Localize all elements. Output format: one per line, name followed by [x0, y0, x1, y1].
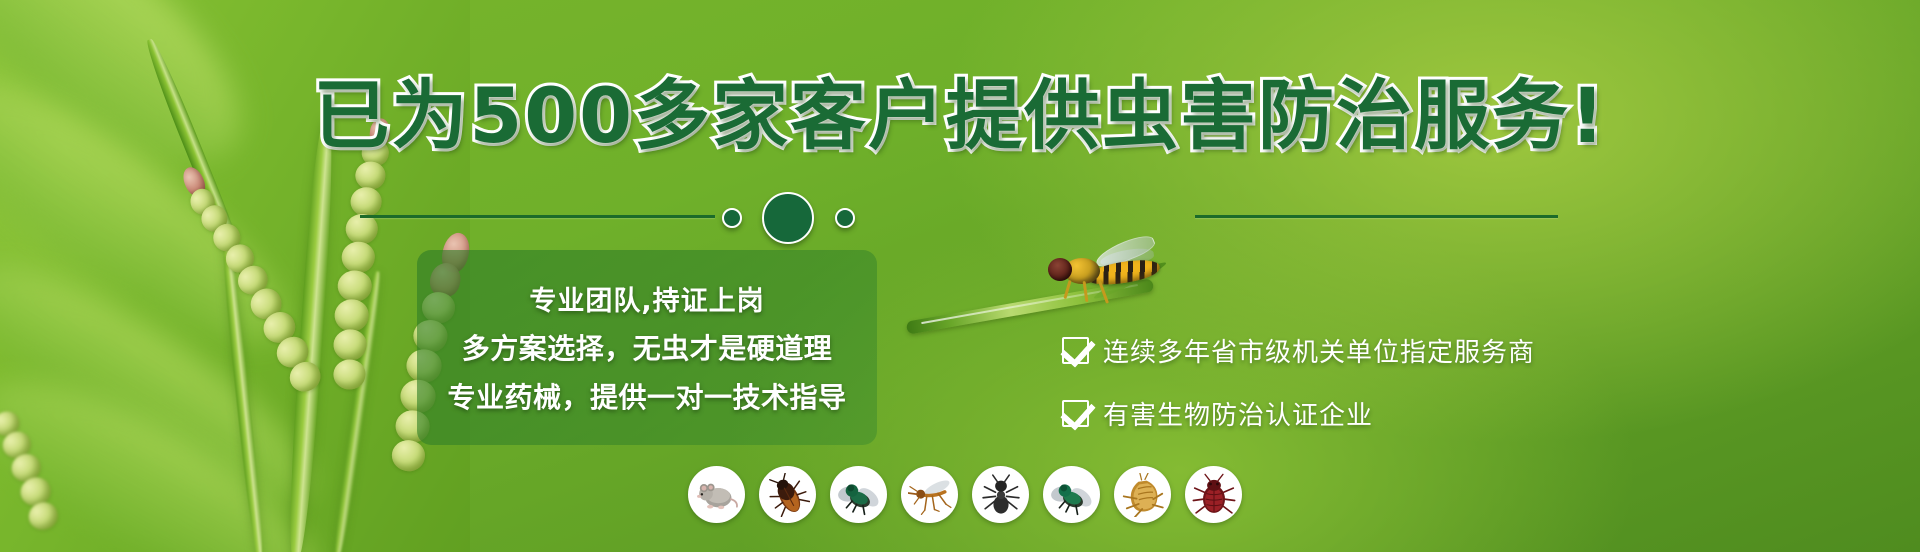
hoverfly-leg	[1083, 281, 1089, 302]
divider-rule-right	[1195, 215, 1558, 218]
check-square-icon	[1062, 400, 1089, 427]
hoverfly-head	[1048, 258, 1072, 281]
decorative-dot-small	[835, 208, 855, 228]
check-square-icon	[1062, 337, 1089, 364]
pest-icon-mosquito[interactable]	[901, 466, 958, 523]
cockroach-icon	[766, 473, 810, 517]
page-title: 已为500多家客户提供虫害防治服务!	[0, 78, 1920, 154]
checklist-item-label: 连续多年省市级机关单位指定服务商	[1103, 332, 1535, 369]
pest-icon-bedbug[interactable]	[1185, 466, 1242, 523]
pest-icon-blowfly[interactable]	[1043, 466, 1100, 523]
checklist-item: 连续多年省市级机关单位指定服务商	[1062, 332, 1682, 369]
checklist-item: 有害生物防治认证企业	[1062, 395, 1682, 432]
pest-icon-rodent[interactable]	[688, 466, 745, 523]
feature-highlight-box: 专业团队,持证上岗 多方案选择，无虫才是硬道理 专业药械，提供一对一技术指导	[417, 250, 877, 445]
decorative-dot-large	[762, 192, 814, 244]
rodent-icon	[695, 473, 739, 517]
feature-line-2: 多方案选择，无虫才是硬道理	[462, 327, 833, 367]
feature-line-1: 专业团队,持证上岗	[529, 279, 764, 318]
bedbug-icon	[1192, 473, 1236, 517]
ant-icon	[979, 473, 1023, 517]
feature-line-3: 专业药械，提供一对一技术指导	[447, 376, 846, 416]
pest-control-hero-banner: 已为500多家客户提供虫害防治服务! 专业团队,持证上岗 多方案选择，无虫才是硬…	[0, 0, 1920, 552]
mosquito-icon	[908, 473, 952, 517]
pest-icon-fly[interactable]	[830, 466, 887, 523]
hoverfly-icon	[1042, 248, 1160, 304]
pest-icon-cockroach[interactable]	[759, 466, 816, 523]
fly-icon	[837, 473, 881, 517]
decorative-dot-small	[722, 208, 742, 228]
hoverfly-leg	[1063, 280, 1071, 299]
pest-icon-flea[interactable]	[1114, 466, 1171, 523]
pest-type-icon-row	[688, 466, 1242, 523]
credentials-checklist: 连续多年省市级机关单位指定服务商 有害生物防治认证企业	[1062, 332, 1682, 432]
flea-icon	[1121, 473, 1165, 517]
checklist-item-label: 有害生物防治认证企业	[1103, 395, 1373, 432]
pest-icon-ant[interactable]	[972, 466, 1029, 523]
blowfly-icon	[1050, 473, 1094, 517]
